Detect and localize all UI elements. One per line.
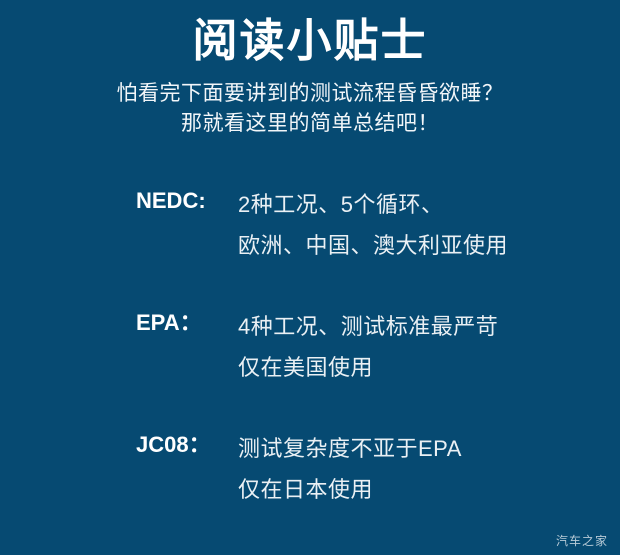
page-subtitle-line-1: 怕看完下面要讲到的测试流程昏昏欲睡？ [0,79,620,109]
summary-list: NEDC: 2种工况、5个循环、 欧洲、中国、澳大利亚使用 EPA： 4种工况、… [0,178,620,544]
summary-text-nedc: 2种工况、5个循环、 欧洲、中国、澳大利亚使用 [238,184,598,266]
page-subtitle: 怕看完下面要讲到的测试流程昏昏欲睡？ 那就看这里的简单总结吧！ [0,67,620,139]
summary-text-jc08: 测试复杂度不亚于EPA 仅在日本使用 [238,428,598,510]
summary-label-jc08: JC08： [136,428,240,462]
page-subtitle-line-2: 那就看这里的简单总结吧！ [0,109,620,139]
summary-row-epa: EPA： 4种工况、测试标准最严苛 仅在美国使用 [0,300,620,422]
summary-text-jc08-line-1: 测试复杂度不亚于EPA [238,428,598,469]
summary-label-nedc: NEDC: [136,184,240,218]
summary-row-nedc: NEDC: 2种工况、5个循环、 欧洲、中国、澳大利亚使用 [0,178,620,300]
summary-text-epa-line-1: 4种工况、测试标准最严苛 [238,306,598,347]
page-title: 阅读小贴士 [0,0,620,67]
summary-text-epa-line-2: 仅在美国使用 [238,347,598,388]
poster-header: 阅读小贴士 怕看完下面要讲到的测试流程昏昏欲睡？ 那就看这里的简单总结吧！ [0,0,620,139]
summary-text-nedc-line-1: 2种工况、5个循环、 [238,184,598,225]
reading-tips-poster: 阅读小贴士 怕看完下面要讲到的测试流程昏昏欲睡？ 那就看这里的简单总结吧！ NE… [0,0,620,555]
summary-row-jc08: JC08： 测试复杂度不亚于EPA 仅在日本使用 [0,422,620,544]
watermark: 汽车之家 [556,534,608,548]
summary-text-epa: 4种工况、测试标准最严苛 仅在美国使用 [238,306,598,388]
summary-text-jc08-line-2: 仅在日本使用 [238,469,598,510]
summary-label-epa: EPA： [136,306,240,340]
summary-text-nedc-line-2: 欧洲、中国、澳大利亚使用 [238,225,598,266]
